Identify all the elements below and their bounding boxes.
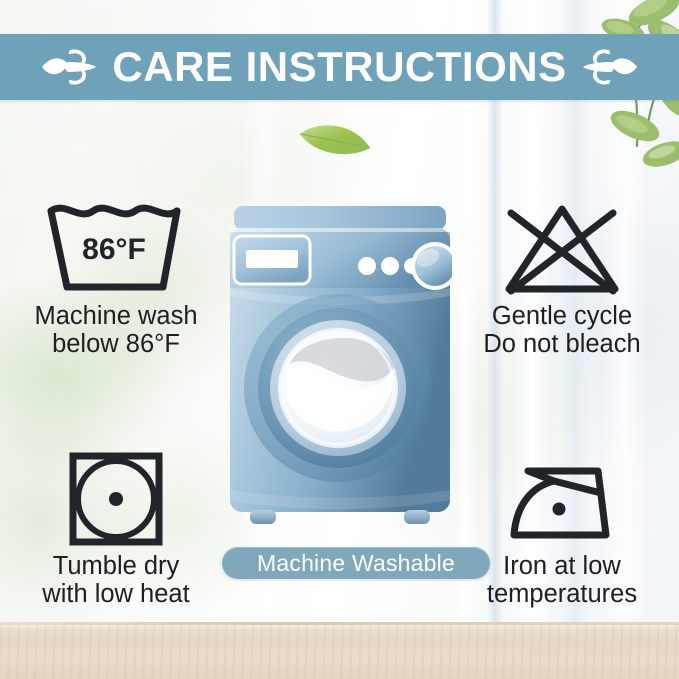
caption-line-1: Machine wash xyxy=(6,303,226,331)
tumble-dry-low-icon xyxy=(66,449,166,549)
floating-leaf-icon xyxy=(296,118,374,160)
wash-temperature-label: 86°F xyxy=(82,233,146,266)
symbol-graphic xyxy=(452,196,672,301)
caption-line-1: Gentle cycle xyxy=(452,303,672,331)
page-title: CARE INSTRUCTIONS xyxy=(112,43,566,91)
symbol-graphic xyxy=(6,446,226,551)
washing-machine-illustration xyxy=(228,204,452,536)
crossed-triangle-icon xyxy=(497,199,627,299)
care-symbol-iron: Iron at low temperatures xyxy=(452,446,672,608)
table-edge xyxy=(0,622,679,625)
caption-line-2: Do not bleach xyxy=(452,331,672,359)
care-symbol-caption: Machine wash below 86°F xyxy=(6,303,226,358)
caption-line-2: with low heat xyxy=(6,581,226,609)
care-instructions-poster: CARE INSTRUCTIONS 86°F Machine wash belo… xyxy=(0,0,679,679)
caption-line-1: Tumble dry xyxy=(6,553,226,581)
machine-washable-badge: Machine Washable xyxy=(222,547,490,579)
care-symbol-do-not-bleach: Gentle cycle Do not bleach xyxy=(452,196,672,358)
symbol-graphic: 86°F xyxy=(6,196,226,301)
iron-low-icon xyxy=(502,449,622,549)
fleur-de-lis-icon xyxy=(40,44,98,90)
caption-line-2: below 86°F xyxy=(6,331,226,359)
care-symbol-caption: Gentle cycle Do not bleach xyxy=(452,303,672,358)
wooden-table-surface xyxy=(0,622,679,679)
care-symbol-machine-wash: 86°F Machine wash below 86°F xyxy=(6,196,226,358)
wash-tub-icon: 86°F xyxy=(41,199,191,299)
header-banner: CARE INSTRUCTIONS xyxy=(0,34,679,100)
symbol-graphic xyxy=(452,446,672,551)
fleur-de-lis-icon xyxy=(581,44,639,90)
care-symbol-tumble-dry: Tumble dry with low heat xyxy=(6,446,226,608)
care-symbol-caption: Tumble dry with low heat xyxy=(6,553,226,608)
badge-label: Machine Washable xyxy=(257,550,455,577)
caption-line-2: temperatures xyxy=(452,581,672,609)
